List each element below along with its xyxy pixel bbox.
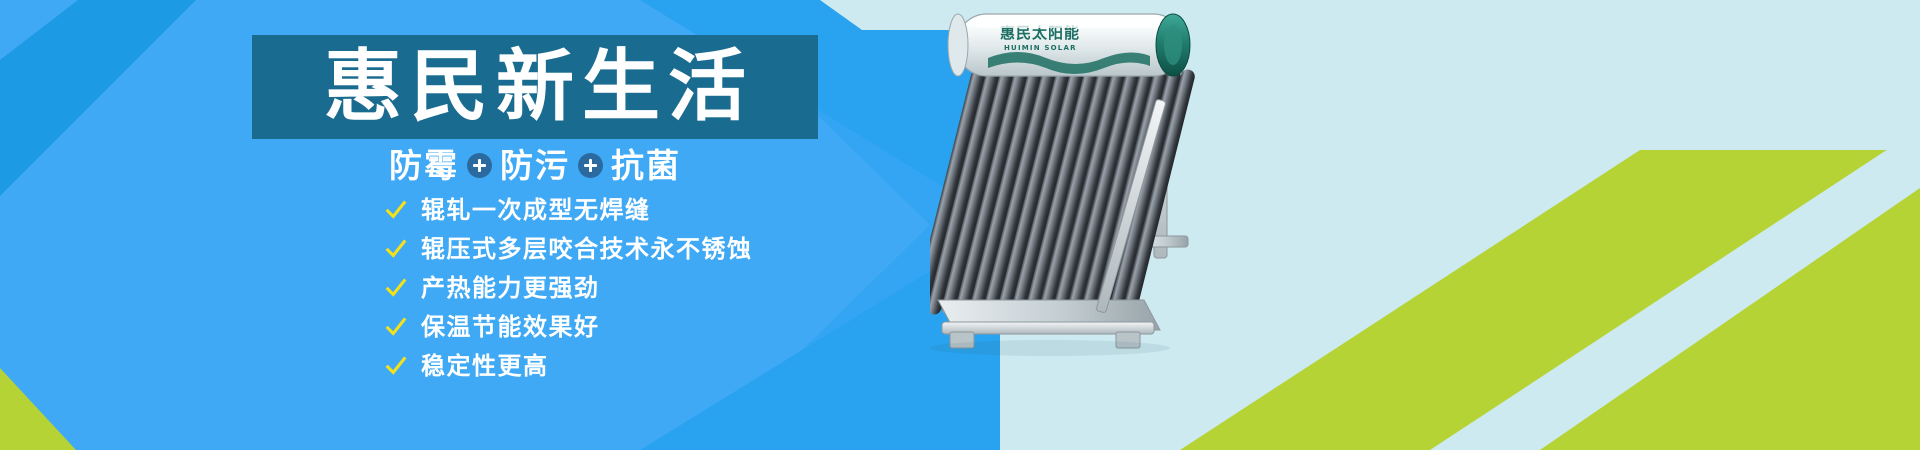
title-box: 惠民新生活 (252, 35, 818, 139)
promo-banner: 惠民新生活 防霉 防污 抗菌 辊轧一次成型无焊缝 辊压式多层咬合技术永不锈蚀 (0, 0, 1920, 450)
feature-label: 辊压式多层咬合技术永不锈蚀 (421, 237, 753, 261)
tank-brand-subtext: HUIMIN SOLAR (1004, 44, 1077, 52)
feature-list: 辊轧一次成型无焊缝 辊压式多层咬合技术永不锈蚀 产热能力更强劲 保温节能效果好 (385, 195, 753, 381)
check-icon (385, 277, 407, 299)
check-icon (385, 199, 407, 221)
list-item: 产热能力更强劲 (385, 273, 753, 303)
subtitle-word-3: 抗菌 (611, 149, 681, 182)
list-item: 保温节能效果好 (385, 312, 753, 342)
feature-label: 保温节能效果好 (421, 315, 600, 339)
check-icon (385, 238, 407, 260)
subtitle-word-1: 防霉 (389, 149, 459, 182)
page-title: 惠民新生活 (316, 48, 754, 126)
product-shadow (930, 340, 1170, 356)
check-icon (385, 355, 407, 377)
subtitle-word-2: 防污 (500, 149, 570, 182)
plus-circle-icon (467, 153, 492, 178)
list-item: 辊轧一次成型无焊缝 (385, 195, 753, 225)
check-icon (385, 316, 407, 338)
list-item: 辊压式多层咬合技术永不锈蚀 (385, 234, 753, 264)
feature-label: 产热能力更强劲 (421, 276, 600, 300)
plus-circle-icon (578, 153, 603, 178)
feature-label: 稳定性更高 (421, 354, 549, 378)
banner-content: 惠民新生活 防霉 防污 抗菌 辊轧一次成型无焊缝 辊压式多层咬合技术永不锈蚀 (0, 0, 1060, 450)
product-image: 惠民太阳能 HUIMIN SOLAR (930, 0, 1280, 450)
list-item: 稳定性更高 (385, 351, 753, 381)
product-storage-tank: 惠民太阳能 HUIMIN SOLAR (948, 14, 1190, 76)
subtitle-row: 防霉 防污 抗菌 (252, 142, 818, 188)
feature-label: 辊轧一次成型无焊缝 (421, 198, 651, 222)
